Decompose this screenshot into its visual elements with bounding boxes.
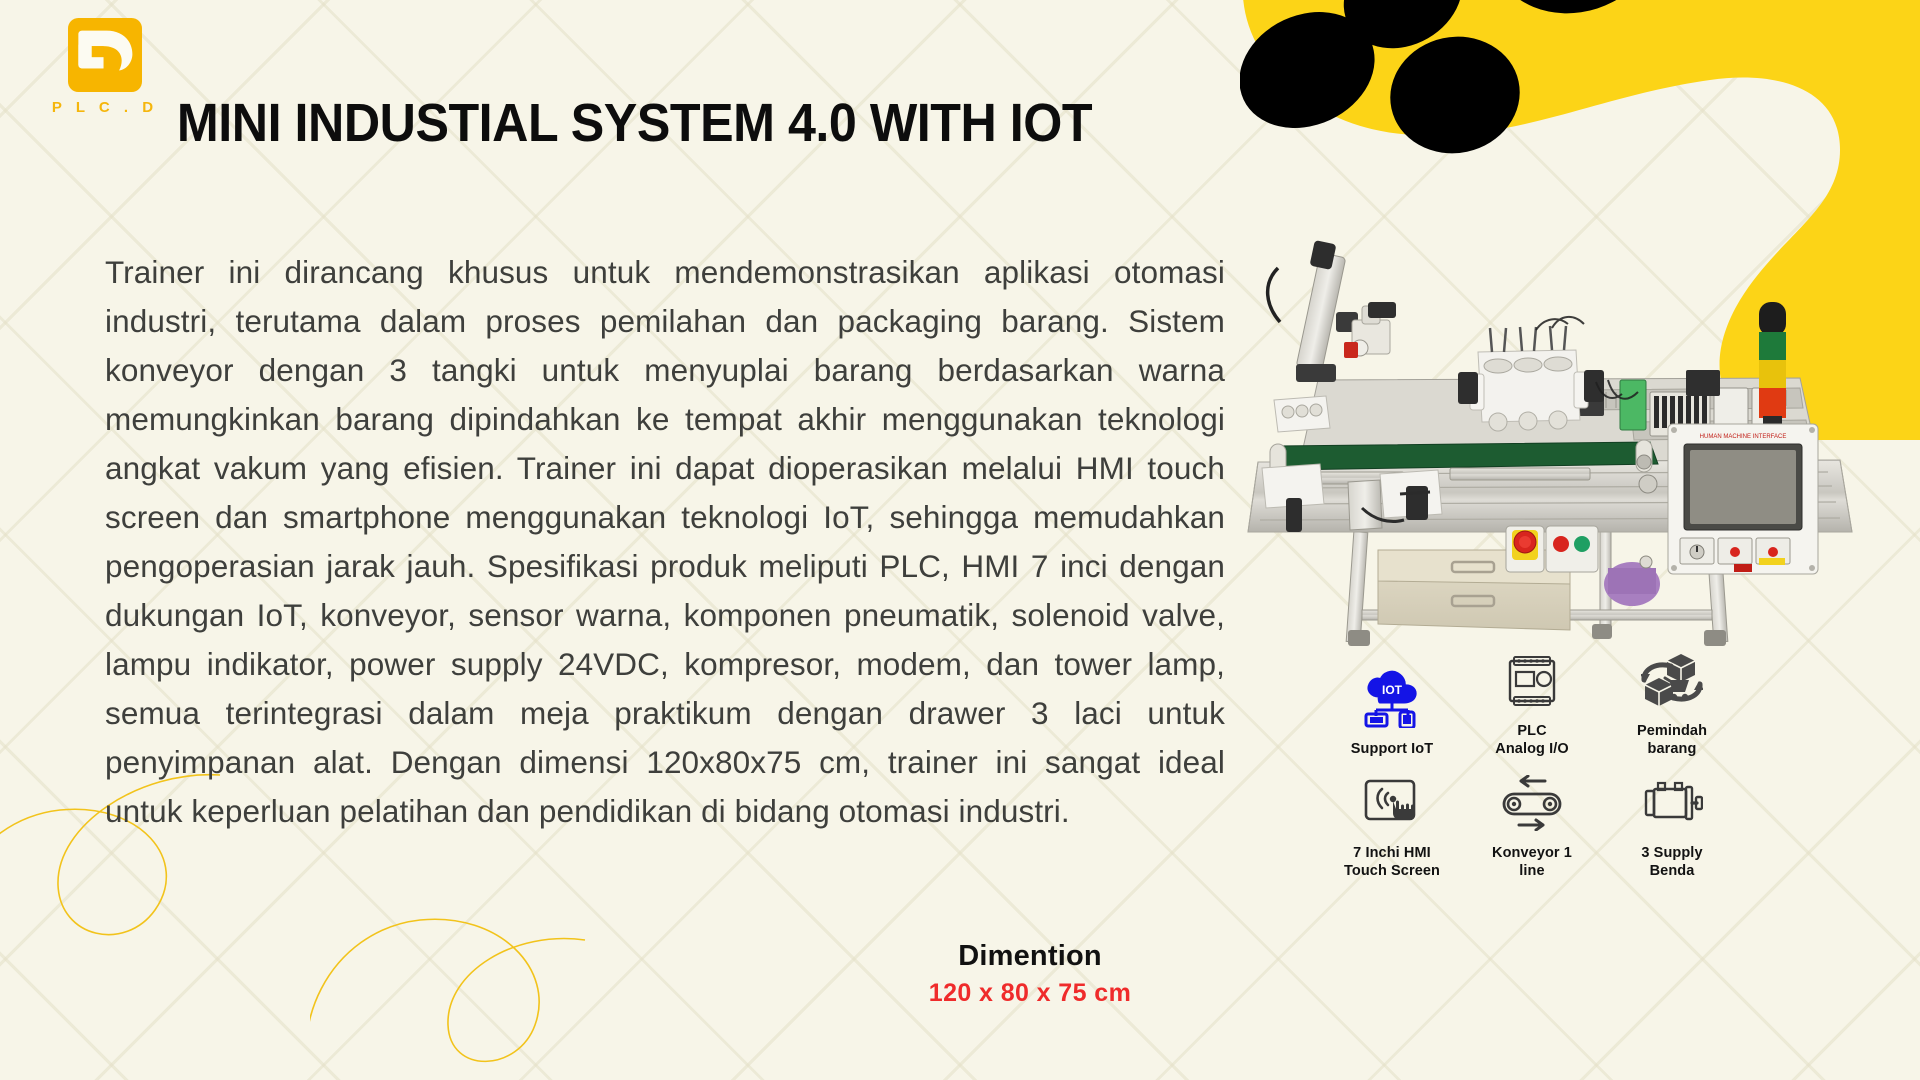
feature-pemindah-barang: Pemindahbarang (1602, 650, 1742, 758)
svg-text:HUMAN MACHINE INTERFACE: HUMAN MACHINE INTERFACE (1700, 434, 1787, 440)
page-title: MINI INDUSTIAL SYSTEM 4.0 WITH IOT (67, 96, 1853, 150)
dimension-value: 120 x 80 x 75 cm (820, 979, 1240, 1008)
pneumatic-cylinder-icon (1641, 772, 1703, 834)
feature-hmi-touch-screen: 7 Inchi HMITouch Screen (1322, 772, 1462, 880)
dimension-block: Dimention 120 x 80 x 75 cm (820, 940, 1240, 1008)
product-photo: HUMAN MACHINE INTERFACE (1240, 232, 1860, 652)
feature-label: Support IoT (1351, 740, 1433, 758)
touch-screen-icon (1362, 772, 1422, 834)
conveyor-belt-icon (1501, 772, 1563, 834)
feature-label: Pemindahbarang (1637, 722, 1707, 758)
svg-text:IOT: IOT (1382, 683, 1403, 697)
iot-cloud-icon: IOT (1362, 668, 1422, 730)
feature-label: PLCAnalog I/O (1495, 722, 1569, 758)
feature-supply-benda: 3 SupplyBenda (1602, 772, 1742, 880)
plc-module-icon (1504, 650, 1560, 712)
feature-label: Konveyor 1line (1492, 844, 1572, 880)
feature-support-iot: IOT Support IoT (1322, 650, 1462, 758)
description-paragraph: Trainer ini dirancang khusus untuk mende… (105, 248, 1225, 836)
feature-label: 3 SupplyBenda (1641, 844, 1702, 880)
dimension-label: Dimention (820, 940, 1240, 973)
feature-label: 7 Inchi HMITouch Screen (1344, 844, 1440, 880)
box-transfer-icon (1641, 650, 1703, 712)
feature-konveyor: Konveyor 1line (1462, 772, 1602, 880)
feature-grid: IOT Support IoT (1322, 650, 1742, 881)
feature-plc-analog-io: PLCAnalog I/O (1462, 650, 1602, 758)
plcd-logo-icon (68, 18, 142, 92)
